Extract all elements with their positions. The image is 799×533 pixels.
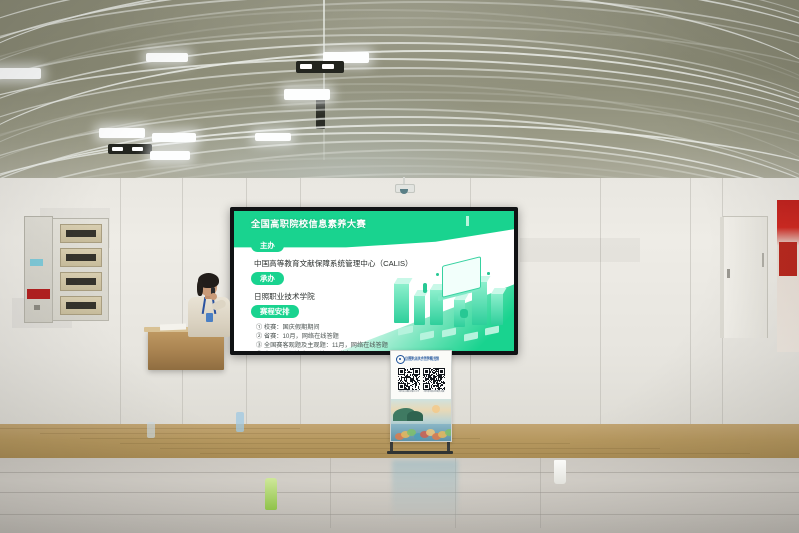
- panel-vent: [60, 248, 102, 267]
- slide-pill-organizer: 承办: [251, 272, 284, 285]
- audience: [0, 300, 799, 533]
- slide-host-text: 中国高等教育文献保障系统管理中心（CALIS）: [254, 258, 413, 269]
- ceiling-light: [284, 89, 330, 100]
- slide-title: 全国高职院校信息素养大赛: [251, 216, 366, 230]
- wall-patch: [520, 238, 640, 262]
- water-bottle-small: [236, 412, 244, 432]
- ceiling-light: [255, 133, 291, 141]
- panel-vent: [60, 272, 102, 291]
- door-handle-icon[interactable]: [727, 269, 730, 278]
- presenter-hand: [210, 293, 217, 300]
- door-hinge: [762, 253, 764, 267]
- slide-title-marker: [466, 216, 469, 226]
- wavy-baffle-ceiling: [0, 0, 799, 196]
- bottle-far: [147, 422, 155, 438]
- ceiling-light: [150, 151, 190, 160]
- presenter-hair-side: [197, 280, 203, 296]
- cabinet-sticker: [30, 259, 43, 266]
- ceiling-light: [146, 53, 188, 62]
- warning-label: [27, 289, 50, 299]
- ceiling-light: [99, 128, 145, 138]
- ceiling-light: [296, 61, 344, 73]
- panel-vent: [60, 224, 102, 243]
- ceiling-light: [0, 68, 41, 79]
- lecture-hall-photo: 全国高职院校信息素养大赛 主办 中国高等教育文献保障系统管理中心（CALIS） …: [0, 0, 799, 533]
- paper-cup: [554, 460, 566, 484]
- water-bottle: [265, 478, 277, 510]
- poster-image: [779, 242, 797, 276]
- slide-pill-host: 主办: [251, 239, 284, 252]
- ceiling-light: [152, 133, 196, 142]
- ceiling-light: [108, 144, 152, 154]
- dome-security-camera-icon: [395, 184, 413, 193]
